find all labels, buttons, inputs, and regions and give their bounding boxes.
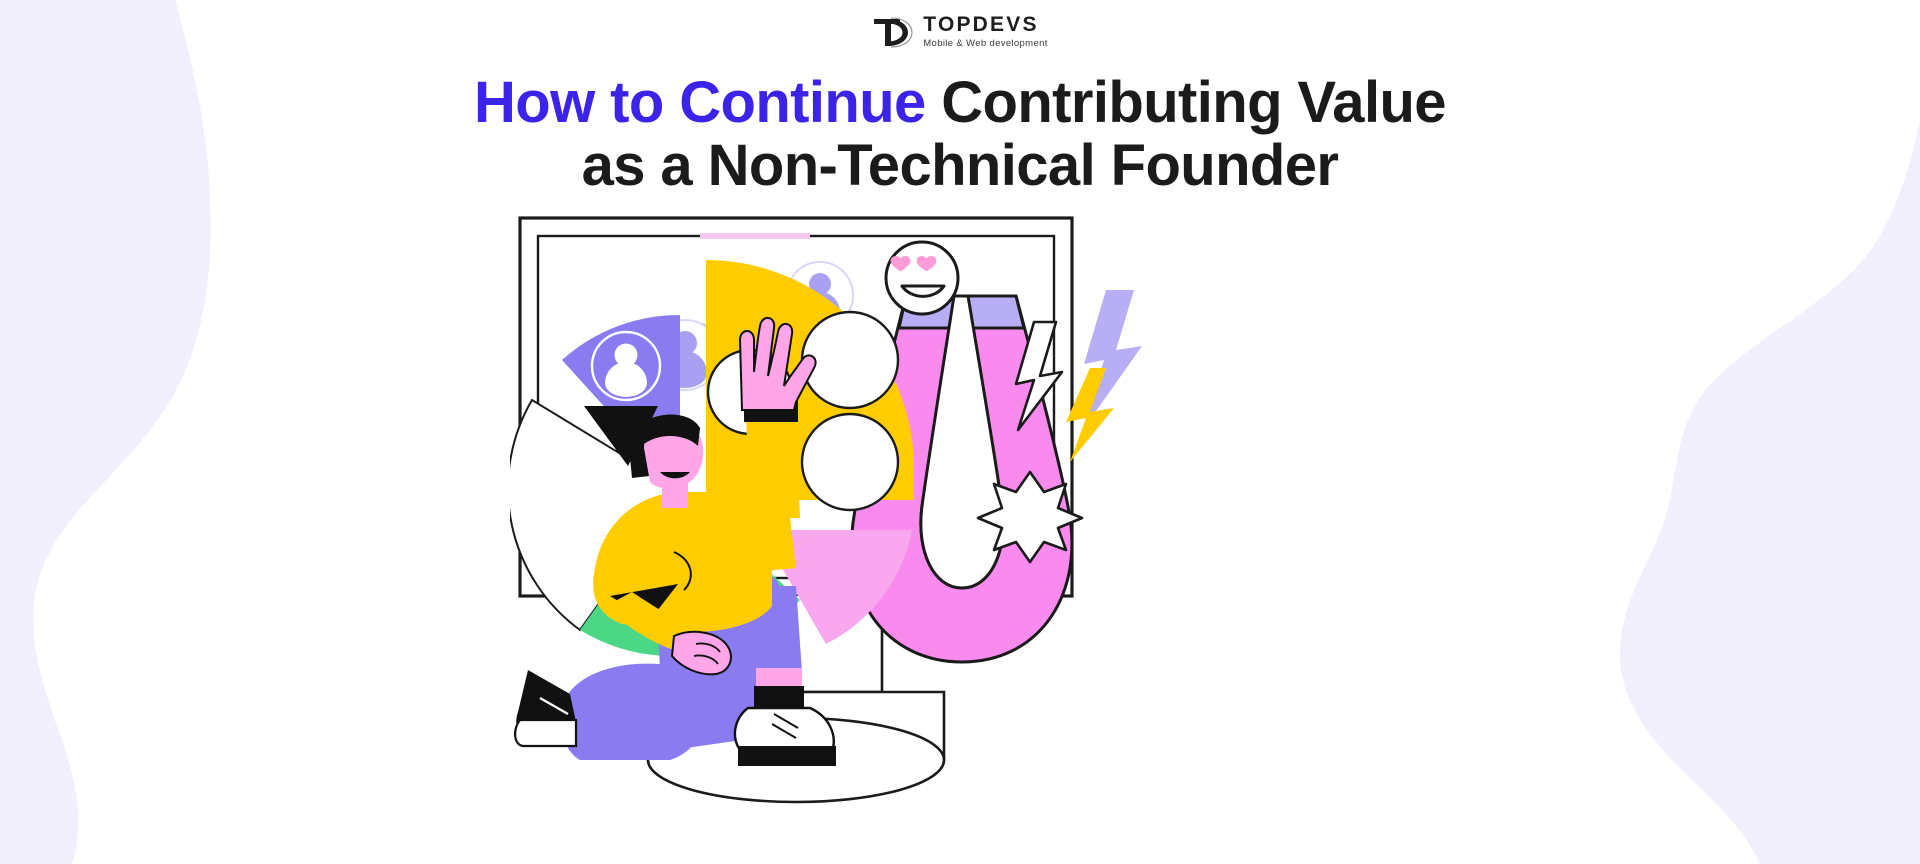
shoe-back xyxy=(515,670,576,746)
arm-upper xyxy=(746,416,800,518)
logo-name: TOPDEVS xyxy=(923,14,1047,36)
shoe-front xyxy=(735,708,836,766)
headline-line-1: How to Continue Contributing Value xyxy=(0,72,1920,135)
page-title: How to Continue Contributing Value as a … xyxy=(0,72,1920,197)
lightning-bolt-purple xyxy=(1084,290,1142,428)
neck xyxy=(662,476,688,508)
pie-hole xyxy=(802,414,898,510)
hero-illustration xyxy=(510,200,1410,864)
blob-right xyxy=(1620,120,1920,864)
hero-banner: TOPDEVS Mobile & Web development How to … xyxy=(0,0,1920,864)
logo-tagline: Mobile & Web development xyxy=(923,38,1047,49)
pie-hole xyxy=(802,312,898,408)
star-burst xyxy=(978,472,1082,562)
td-monogram-icon xyxy=(872,15,914,49)
headline-line-2: as a Non-Technical Founder xyxy=(0,135,1920,198)
headline-line-1-rest: Contributing Value xyxy=(926,70,1446,135)
headline-accent: How to Continue xyxy=(474,70,926,135)
site-logo[interactable]: TOPDEVS Mobile & Web development xyxy=(0,14,1920,49)
heart-eyes-smiley-icon xyxy=(886,242,958,314)
